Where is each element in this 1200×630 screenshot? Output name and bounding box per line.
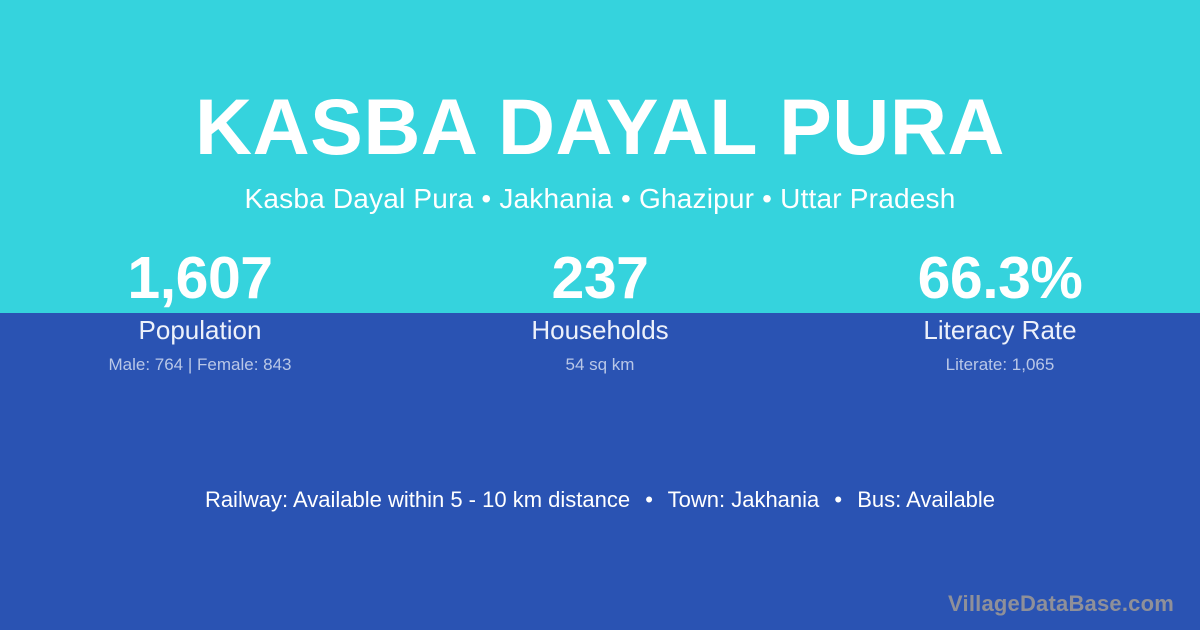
stat-label-population: Population [0, 314, 400, 346]
stat-block-population: 1,607 Population Male: 764 | Female: 843 [0, 244, 400, 376]
stat-value-literacy-rate: 66.3% [800, 244, 1200, 312]
stat-block-households: 237 Households 54 sq km [400, 244, 800, 376]
village-info-card: KASBA DAYAL PURA Kasba Dayal Pura • Jakh… [0, 0, 1200, 630]
stat-block-literacy-rate: 66.3% Literacy Rate Literate: 1,065 [800, 244, 1200, 376]
stat-value-population: 1,607 [0, 244, 400, 312]
breadcrumb: Kasba Dayal Pura • Jakhania • Ghazipur •… [0, 182, 1200, 216]
amenity-town: Town: Jakhania [668, 487, 820, 512]
amenities-line: Railway: Available within 5 - 10 km dist… [0, 485, 1200, 515]
statistics-row: 1,607 Population Male: 764 | Female: 843… [0, 244, 1200, 376]
amenity-separator-2: • [825, 485, 851, 515]
stat-label-literacy-rate: Literacy Rate [800, 314, 1200, 346]
site-watermark: VillageDataBase.com [948, 590, 1174, 618]
page-title: KASBA DAYAL PURA [0, 84, 1200, 170]
stat-sub-literacy-rate: Literate: 1,065 [800, 354, 1200, 376]
stat-value-households: 237 [400, 244, 800, 312]
amenity-separator-1: • [636, 485, 662, 515]
amenity-railway: Railway: Available within 5 - 10 km dist… [205, 487, 630, 512]
stat-sub-households: 54 sq km [400, 354, 800, 376]
amenity-bus: Bus: Available [857, 487, 995, 512]
stat-label-households: Households [400, 314, 800, 346]
stat-sub-population: Male: 764 | Female: 843 [0, 354, 400, 376]
